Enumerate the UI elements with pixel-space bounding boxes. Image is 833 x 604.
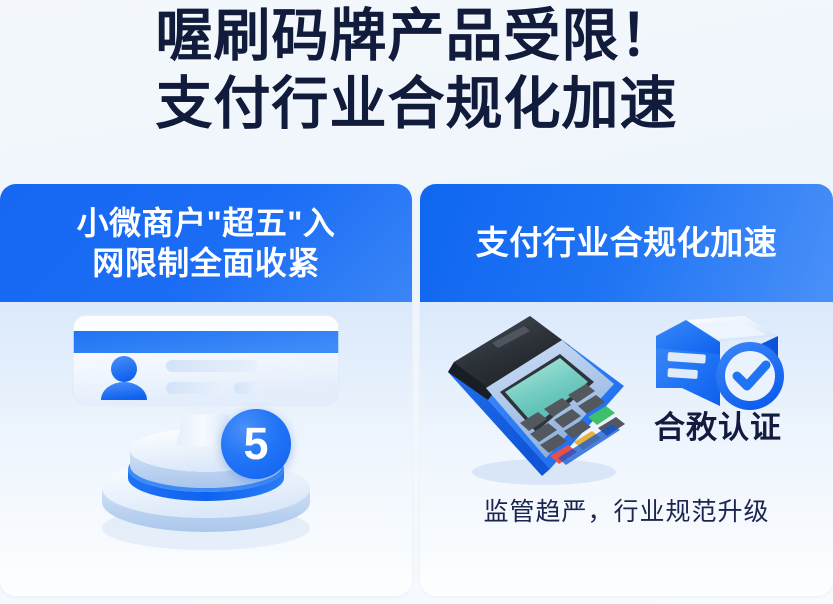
card-compliance-illustration: 合敄认证 监管趋严，行业规范升级	[420, 302, 833, 596]
cards-row: 小微商户"超五"入 网限制全面收紧	[0, 184, 833, 596]
badge-count-5-value: 5	[243, 421, 268, 466]
card-merchant-limit-body: 5	[0, 302, 412, 596]
card-merchant-limit-header-line-2: 网限制全面收紧	[77, 243, 336, 283]
card-compliance-caption: 监管趋严，行业规范升级	[420, 496, 833, 528]
certificate-check-icon	[638, 314, 798, 416]
card-compliance-header: 支付行业合规化加速	[420, 184, 833, 302]
hero-title-line-2: 支付行业合规化加速	[156, 70, 678, 138]
card-compliance[interactable]: 支付行业合规化加速	[420, 184, 833, 596]
pos-terminal-icon	[434, 306, 644, 491]
card-merchant-limit-header-line-1: 小微商户"超五"入	[77, 203, 336, 243]
card-merchant-limit-header: 小微商户"超五"入 网限制全面收紧	[0, 184, 412, 302]
badge-count-5: 5	[221, 409, 291, 479]
id-card-monitor-icon	[56, 306, 356, 556]
hero-title: 喔刷码牌产品受限！ 支付行业合规化加速	[0, 0, 833, 168]
card-compliance-header-text: 支付行业合规化加速	[476, 223, 778, 263]
card-compliance-body: 合敄认证 监管趋严，行业规范升级	[420, 302, 833, 596]
card-merchant-limit-header-text: 小微商户"超五"入 网限制全面收紧	[77, 203, 336, 283]
card-merchant-limit[interactable]: 小微商户"超五"入 网限制全面收紧	[0, 184, 412, 596]
certificate-label: 合敄认证	[638, 410, 798, 446]
hero-title-line-1: 喔刷码牌产品受限！	[156, 2, 678, 70]
